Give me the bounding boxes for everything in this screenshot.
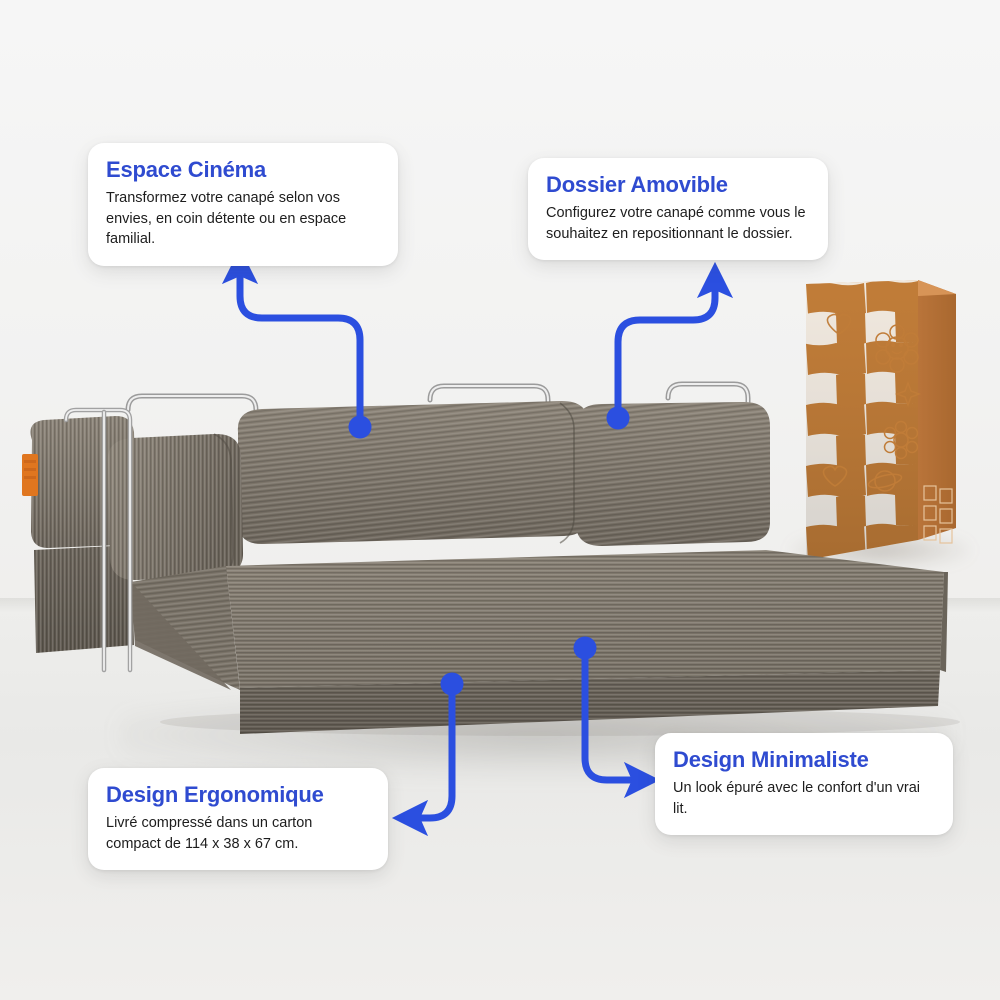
callout-body: Transformez votre canapé selon vos envie… [106,188,380,250]
brand-tag [22,454,38,496]
callout-title: Espace Cinéma [106,157,380,182]
backrest-cushion-right [576,402,770,546]
callout-body: Livré compressé dans un carton compact d… [106,813,370,854]
seat-mattress [131,550,948,734]
callout-title: Design Ergonomique [106,782,370,807]
callout-card-design-ergonomique[interactable]: Design Ergonomique Livré compressé dans … [88,768,388,870]
callout-title: Design Minimaliste [673,747,935,772]
modular-sofa [0,370,1000,750]
product-infographic: Espace Cinéma Transformez votre canapé s… [0,0,1000,1000]
callout-body: Configurez votre canapé comme vous le so… [546,203,810,244]
callout-card-design-minimaliste[interactable]: Design Minimaliste Un look épuré avec le… [655,733,953,835]
callout-card-dossier-amovible[interactable]: Dossier Amovible Configurez votre canapé… [528,158,828,260]
callout-card-espace-cinema[interactable]: Espace Cinéma Transformez votre canapé s… [88,143,398,266]
callout-body: Un look épuré avec le confort d'un vrai … [673,778,935,819]
backrest-cushion-left [238,401,588,544]
callout-title: Dossier Amovible [546,172,810,197]
